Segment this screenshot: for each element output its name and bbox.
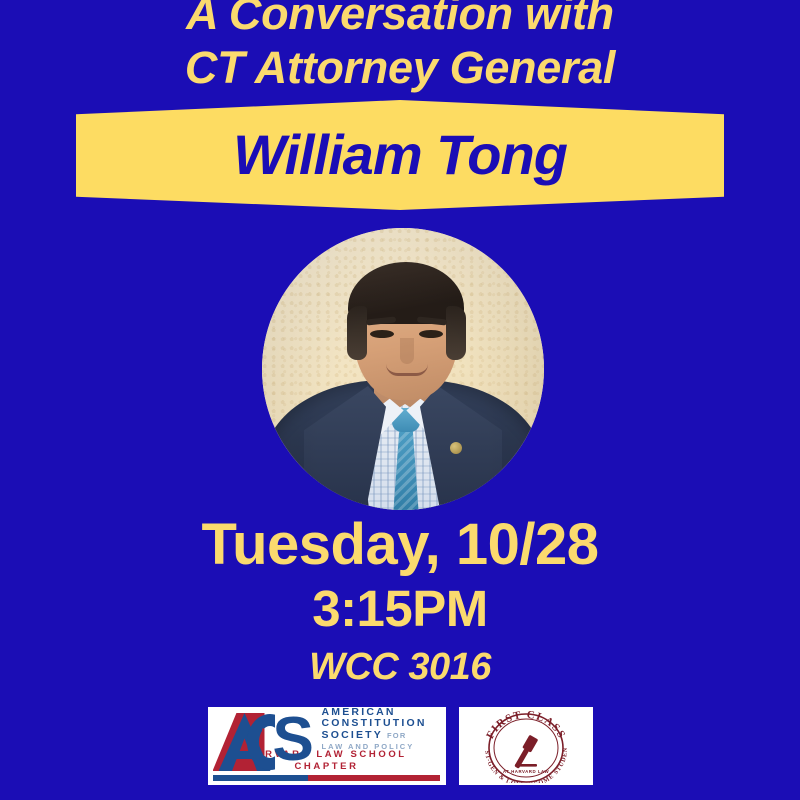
- page-title: A Conversation with CT Attorney General: [0, 0, 800, 95]
- sponsor-logos: S AMERICAN CONSTITUTION SOCIETY FOR LAW …: [0, 707, 800, 785]
- name-banner: William Tong: [76, 100, 724, 210]
- event-time: 3:15PM: [0, 578, 800, 640]
- event-location: WCC 3016: [0, 642, 800, 692]
- acs-line-3: SOCIETY: [322, 730, 384, 742]
- event-date: Tuesday, 10/28: [0, 512, 800, 578]
- first-class-logo: FIRST CLASS FIRST-GEN & LOW-INCOME STUDE…: [459, 707, 593, 785]
- speaker-name: William Tong: [76, 100, 724, 210]
- gavel-block: [515, 764, 537, 767]
- acs-line-3-suffix: FOR: [387, 731, 406, 740]
- portrait-vignette: [262, 228, 544, 510]
- speaker-portrait: [262, 228, 544, 510]
- acs-color-bar: [213, 775, 441, 781]
- event-poster: A Conversation with CT Attorney General …: [0, 0, 800, 800]
- svg-text:FIRST CLASS: FIRST CLASS: [484, 709, 568, 741]
- first-class-subtext: AT HARVARD LAW: [502, 769, 549, 774]
- heading-line-2: CT Attorney General: [0, 41, 800, 95]
- acs-monogram-s: S: [273, 714, 317, 770]
- heading-line-1: A Conversation with: [0, 0, 800, 41]
- event-details: Tuesday, 10/28 3:15PM WCC 3016: [0, 512, 800, 692]
- acs-monogram-icon: S: [213, 711, 317, 748]
- acs-logo: S AMERICAN CONSTITUTION SOCIETY FOR LAW …: [208, 707, 446, 785]
